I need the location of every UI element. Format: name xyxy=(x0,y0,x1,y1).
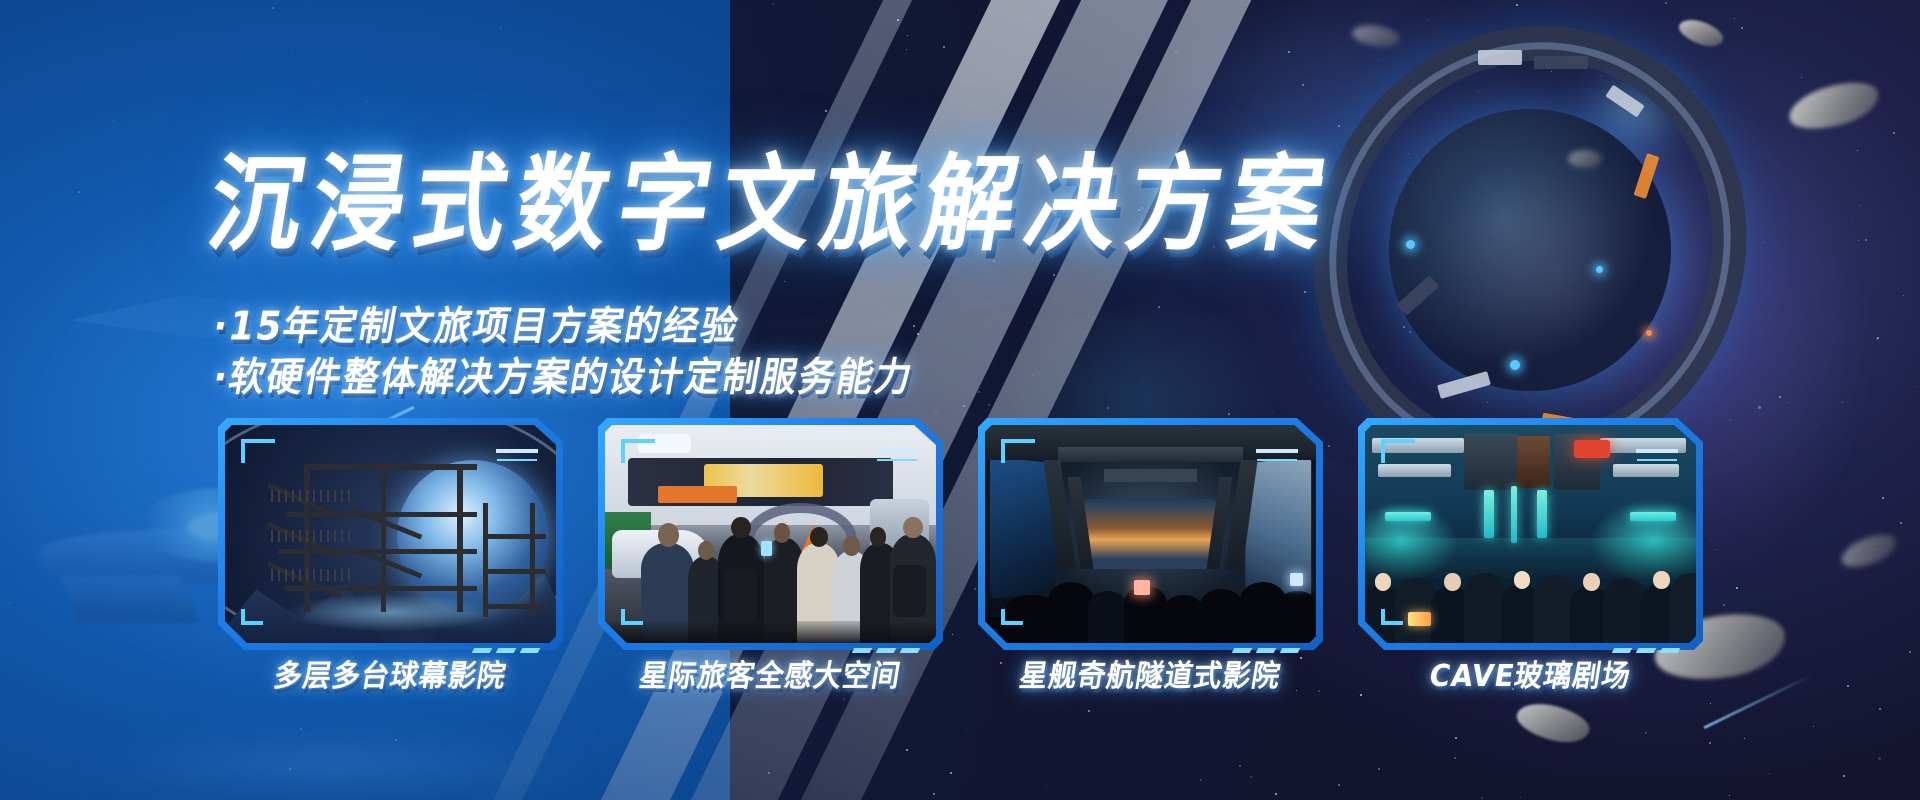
card-image xyxy=(985,425,1316,643)
subtitle-line-2: ·软硬件整体解决方案的设计定制服务能力 xyxy=(209,345,919,402)
feature-card-expo-space[interactable]: 星际旅客全感大空间 xyxy=(598,418,943,650)
banner-stage: 沉浸式数字文旅解决方案 ·15年定制文旅项目方案的经验 ·软硬件整体解决方案的设… xyxy=(0,0,1920,800)
card-tick-marks-icon xyxy=(1256,449,1298,453)
feature-card-cave-theater[interactable]: CAVE玻璃剧场 xyxy=(1358,418,1703,650)
feature-card-list: 多层多台球幕影院 xyxy=(0,418,1920,658)
page-title: 沉浸式数字文旅解决方案 xyxy=(200,120,1346,272)
feature-card-caption: 多层多台球幕影院 xyxy=(215,652,567,695)
feature-card-caption: CAVE玻璃剧场 xyxy=(1355,652,1707,695)
card-image xyxy=(605,425,936,643)
feature-card-dome-theater[interactable]: 多层多台球幕影院 xyxy=(218,418,563,650)
card-tick-marks-icon xyxy=(876,449,918,453)
card-image xyxy=(1365,425,1696,643)
space-station-graphic xyxy=(1310,30,1750,470)
card-image xyxy=(225,425,556,643)
feature-card-tunnel-theater[interactable]: 星舰奇航隧道式影院 xyxy=(978,418,1323,650)
card-tick-marks-icon xyxy=(496,449,538,453)
feature-card-caption: 星舰奇航隧道式影院 xyxy=(975,652,1327,695)
station-core xyxy=(1389,109,1671,391)
subtitle-line-1: ·15年定制文旅项目方案的经验 xyxy=(209,294,745,351)
feature-card-caption: 星际旅客全感大空间 xyxy=(595,652,947,695)
card-tick-marks-icon xyxy=(1636,449,1678,453)
